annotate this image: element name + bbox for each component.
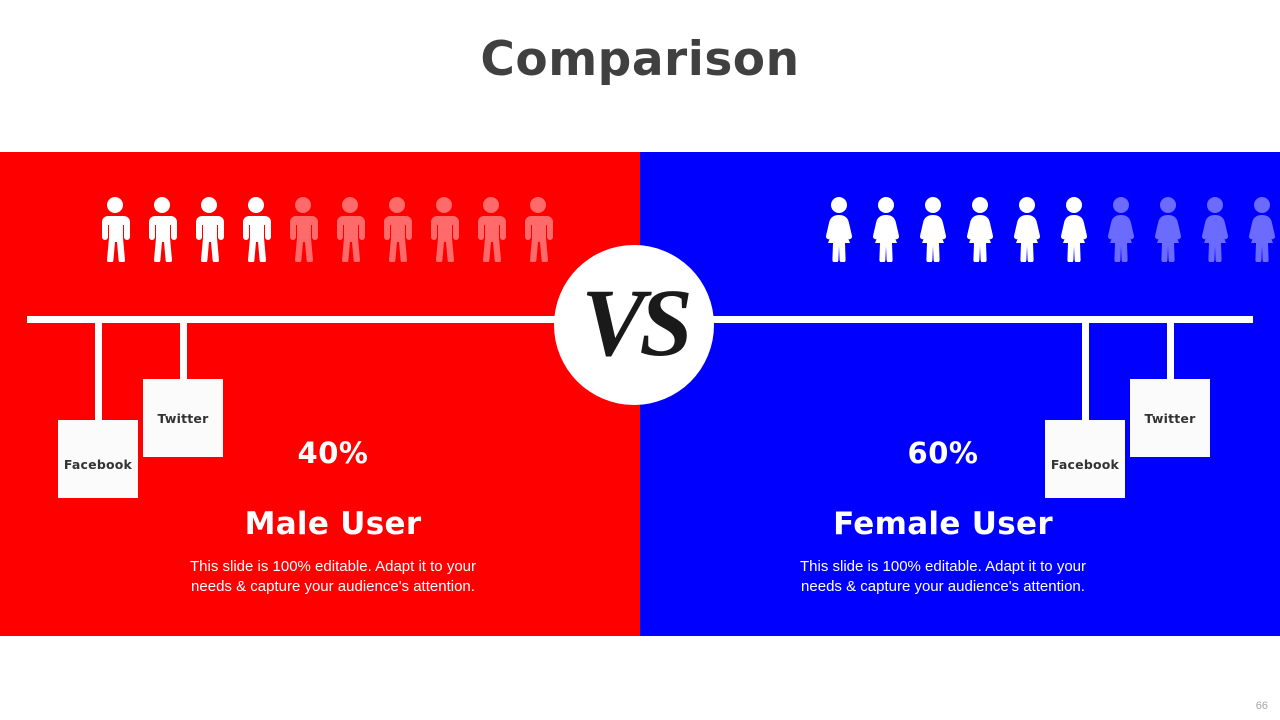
right-text-block: 60% Female User This slide is 100% edita… [778,436,1108,596]
female-figure-icon-faded [1243,196,1280,262]
male-figure-icon-faded [425,196,463,262]
vs-badge: VS [554,245,714,405]
left-body-text: This slide is 100% editable. Adapt it to… [168,557,498,596]
female-figure-icon-faded [1102,196,1140,262]
page-title: Comparison [0,32,1280,87]
left-connector-rail [27,316,611,323]
male-figure-icon [143,196,181,262]
male-figure-icon [190,196,228,262]
right-facebook-stem [1082,318,1089,423]
card-label: Facebook [64,457,132,498]
left-percent: 40% [168,436,498,470]
female-figure-icon [867,196,905,262]
female-figure-icon-faded [1196,196,1234,262]
left-text-block: 40% Male User This slide is 100% editabl… [168,436,498,596]
male-figure-icon-faded [378,196,416,262]
female-pictogram-row [820,196,1280,262]
female-figure-icon [914,196,952,262]
female-figure-icon-faded [1149,196,1187,262]
male-figure-icon-faded [519,196,557,262]
female-figure-icon [961,196,999,262]
male-figure-icon-faded [472,196,510,262]
left-heading: Male User [168,506,498,542]
right-body-text: This slide is 100% editable. Adapt it to… [778,557,1108,596]
page-number: 66 [1256,700,1268,712]
vs-label: VS [581,275,686,371]
right-twitter-stem [1167,318,1174,382]
right-percent: 60% [778,436,1108,470]
left-facebook-stem [95,318,102,423]
card-label: Twitter [1145,411,1196,426]
card-label: Twitter [158,411,209,426]
male-figure-icon-faded [331,196,369,262]
right-connector-rail [669,316,1253,323]
male-figure-icon [237,196,275,262]
female-figure-icon [1055,196,1093,262]
comparison-slide: Comparison [0,0,1280,720]
right-heading: Female User [778,506,1108,542]
female-figure-icon [1008,196,1046,262]
male-figure-icon-faded [284,196,322,262]
left-facebook-card[interactable]: Facebook [58,420,138,498]
male-pictogram-row [96,196,557,262]
male-figure-icon [96,196,134,262]
right-twitter-card[interactable]: Twitter [1130,379,1210,457]
female-figure-icon [820,196,858,262]
left-twitter-stem [180,318,187,382]
